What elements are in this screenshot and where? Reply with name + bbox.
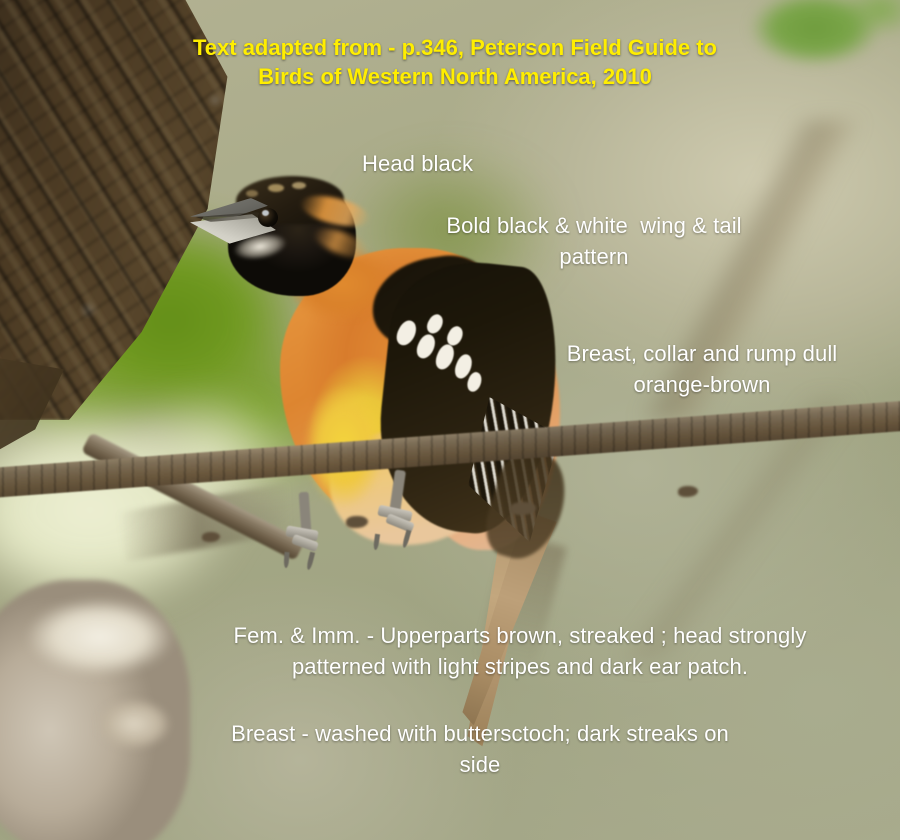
bird-eye-glint: [262, 210, 269, 216]
bird-cheek-stripe: [310, 222, 372, 264]
crown-speckle: [292, 182, 306, 189]
annotated-bird-photo: Text adapted from - p.346, Peterson Fiel…: [0, 0, 900, 840]
crown-speckle: [268, 184, 284, 192]
bird-bill-gape-line: [196, 212, 270, 222]
wing-white-spot: [413, 332, 438, 361]
annotation-wing-tail-pattern: Bold black & white wing & tail pattern: [424, 210, 764, 272]
bird-lower-mandible: [190, 214, 276, 252]
wing-white-spot: [432, 342, 457, 372]
bird-collar: [280, 238, 410, 330]
bird-nape-stripe: [298, 190, 372, 232]
annotation-head-black: Head black: [362, 148, 473, 179]
annotation-breast-wash: Breast - washed with buttersctoch; dark …: [190, 718, 770, 780]
crown-speckle: [246, 190, 258, 197]
wing-white-spot: [393, 318, 420, 349]
bird-crown: [236, 176, 344, 224]
bird-eye: [258, 208, 278, 227]
bird-malar-patch: [230, 227, 296, 265]
source-attribution-title: Text adapted from - p.346, Peterson Fiel…: [150, 33, 760, 91]
black-headed-grosbeak: [0, 0, 900, 840]
annotation-breast-collar-rump: Breast, collar and rump dull orange-brow…: [532, 338, 872, 400]
bird-belly-yellow: [300, 380, 392, 520]
wing-white-spot: [424, 312, 446, 336]
bird-upper-mandible: [190, 198, 268, 228]
annotation-female-immature: Fem. & Imm. - Upperparts brown, streaked…: [180, 620, 860, 682]
bird-body: [280, 248, 530, 533]
